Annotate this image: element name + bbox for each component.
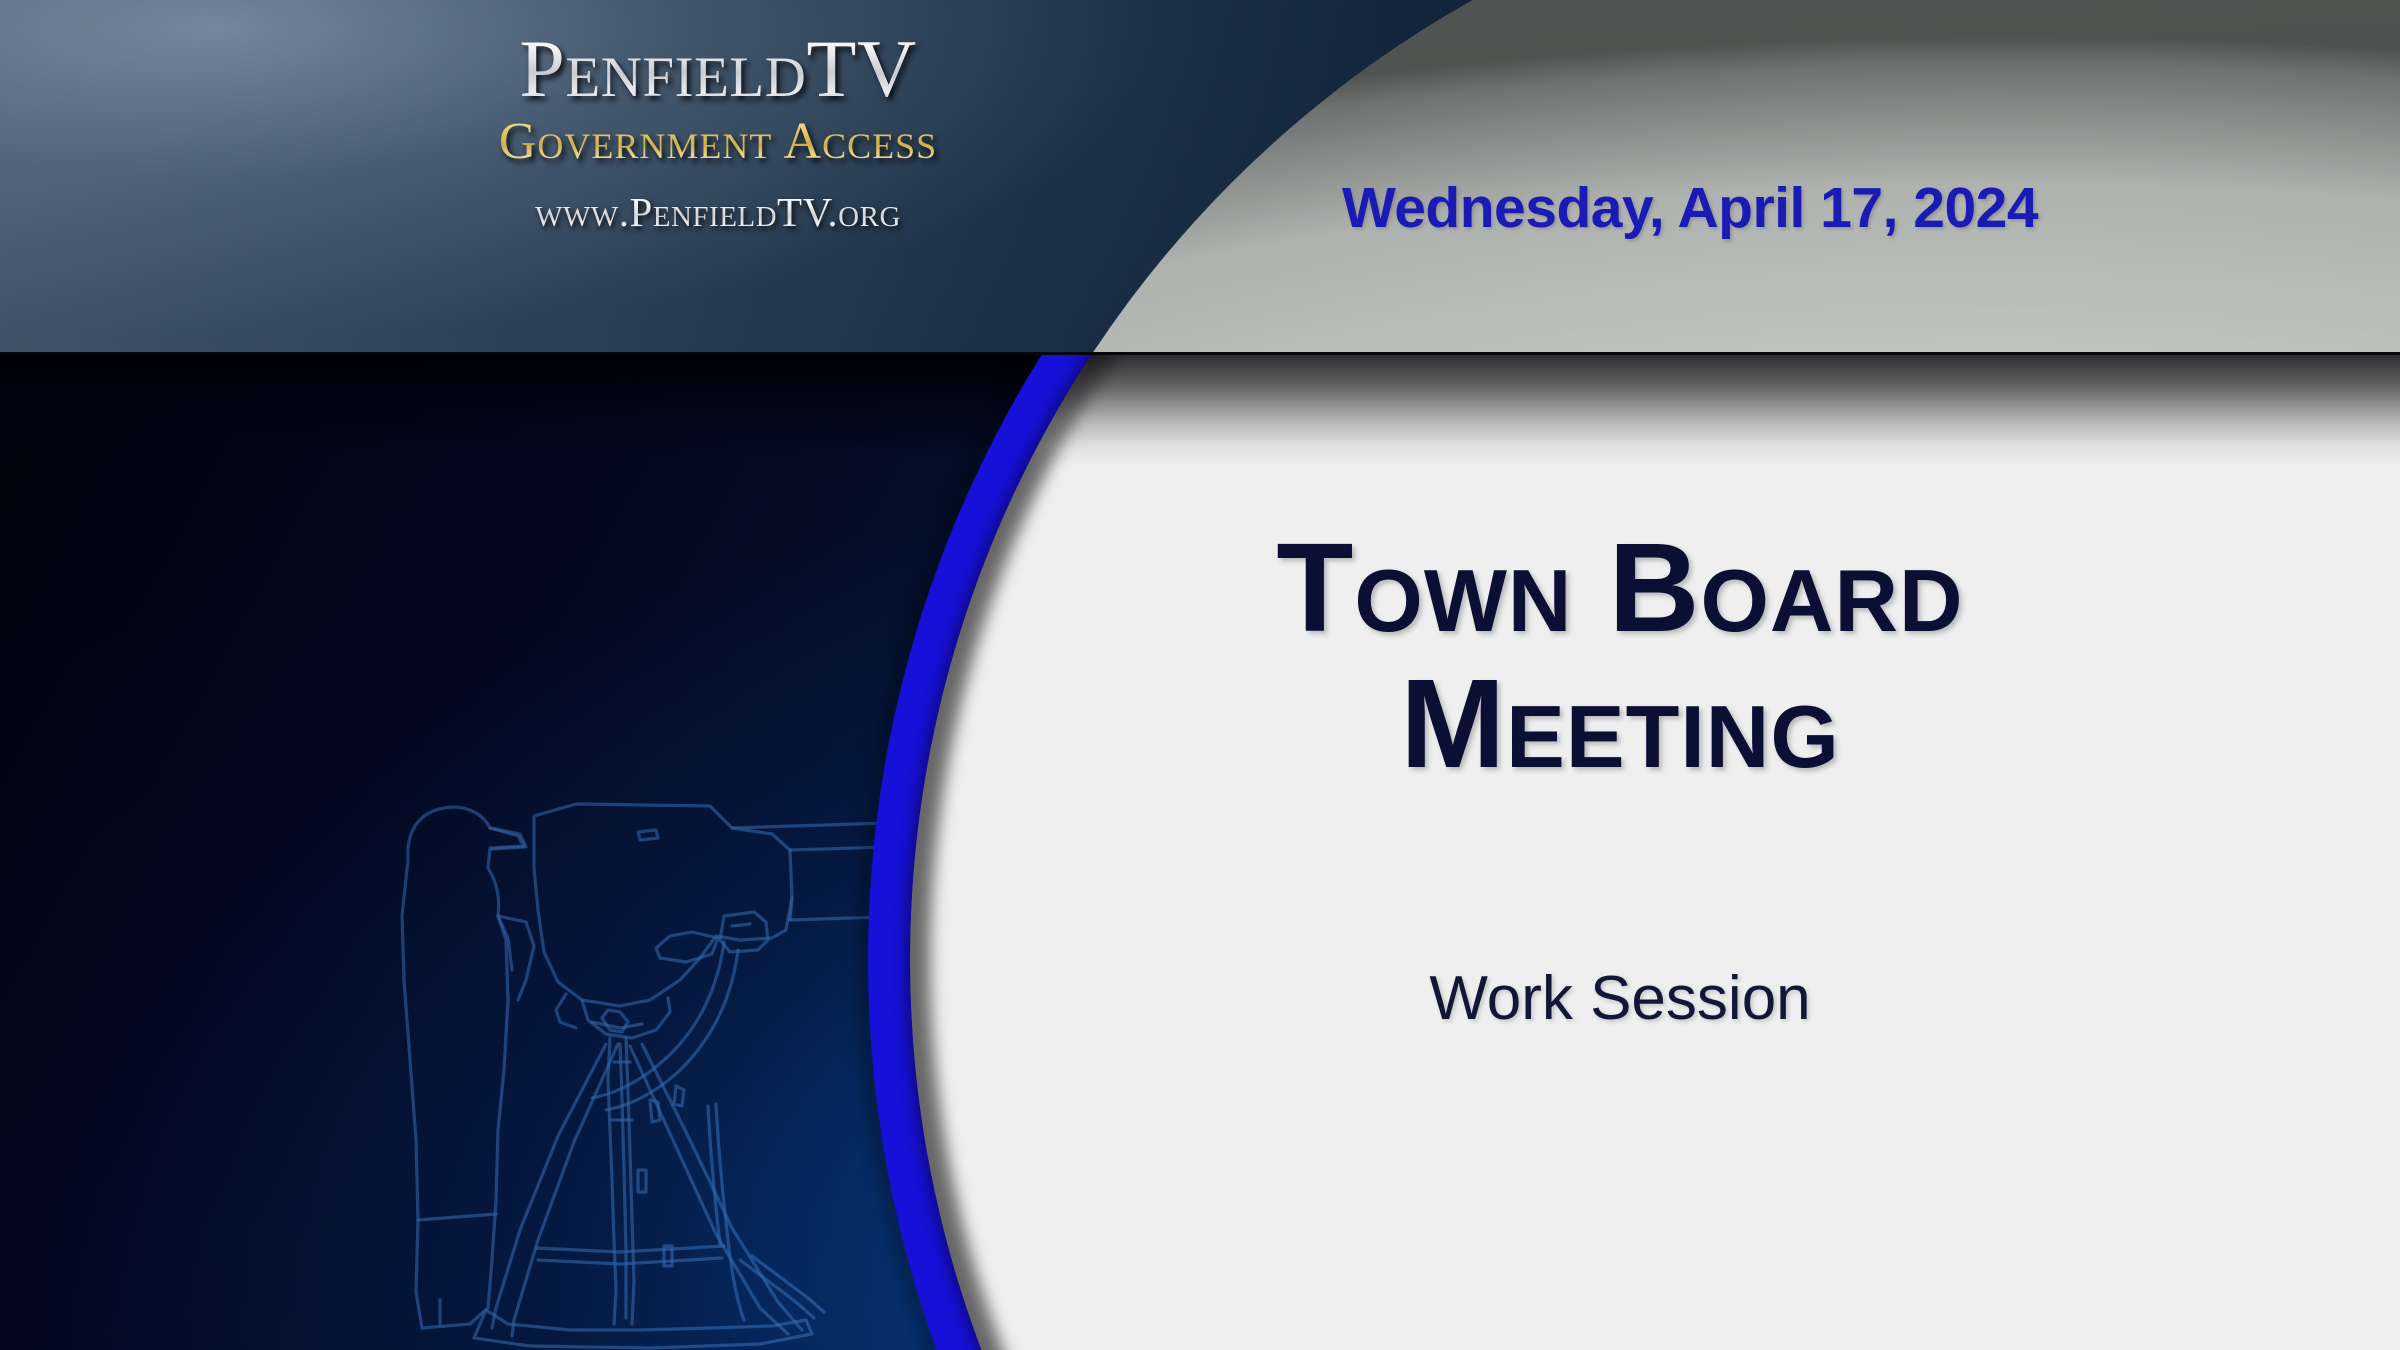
logo-station-name: PenfieldTV <box>398 28 1038 110</box>
meeting-title-line-2: Meeting <box>1040 656 2200 792</box>
meeting-subtitle: Work Session <box>1040 963 2200 1034</box>
logo-station-name-suffix: TV <box>806 23 916 114</box>
meeting-title-card: PenfieldTV Government Access www.Penfiel… <box>0 0 2400 1350</box>
penfieldtv-logo: PenfieldTV Government Access www.Penfiel… <box>398 28 1038 233</box>
logo-website-url: www.PenfieldTV.org <box>398 192 1038 233</box>
meeting-title-line-1: Town Board <box>1040 520 2200 656</box>
logo-station-name-primary: Penfield <box>519 23 806 114</box>
meeting-date: Wednesday, April 17, 2024 <box>1290 175 2090 241</box>
logo-tagline: Government Access <box>398 116 1038 168</box>
meeting-title: Town Board Meeting <box>1040 520 2200 792</box>
